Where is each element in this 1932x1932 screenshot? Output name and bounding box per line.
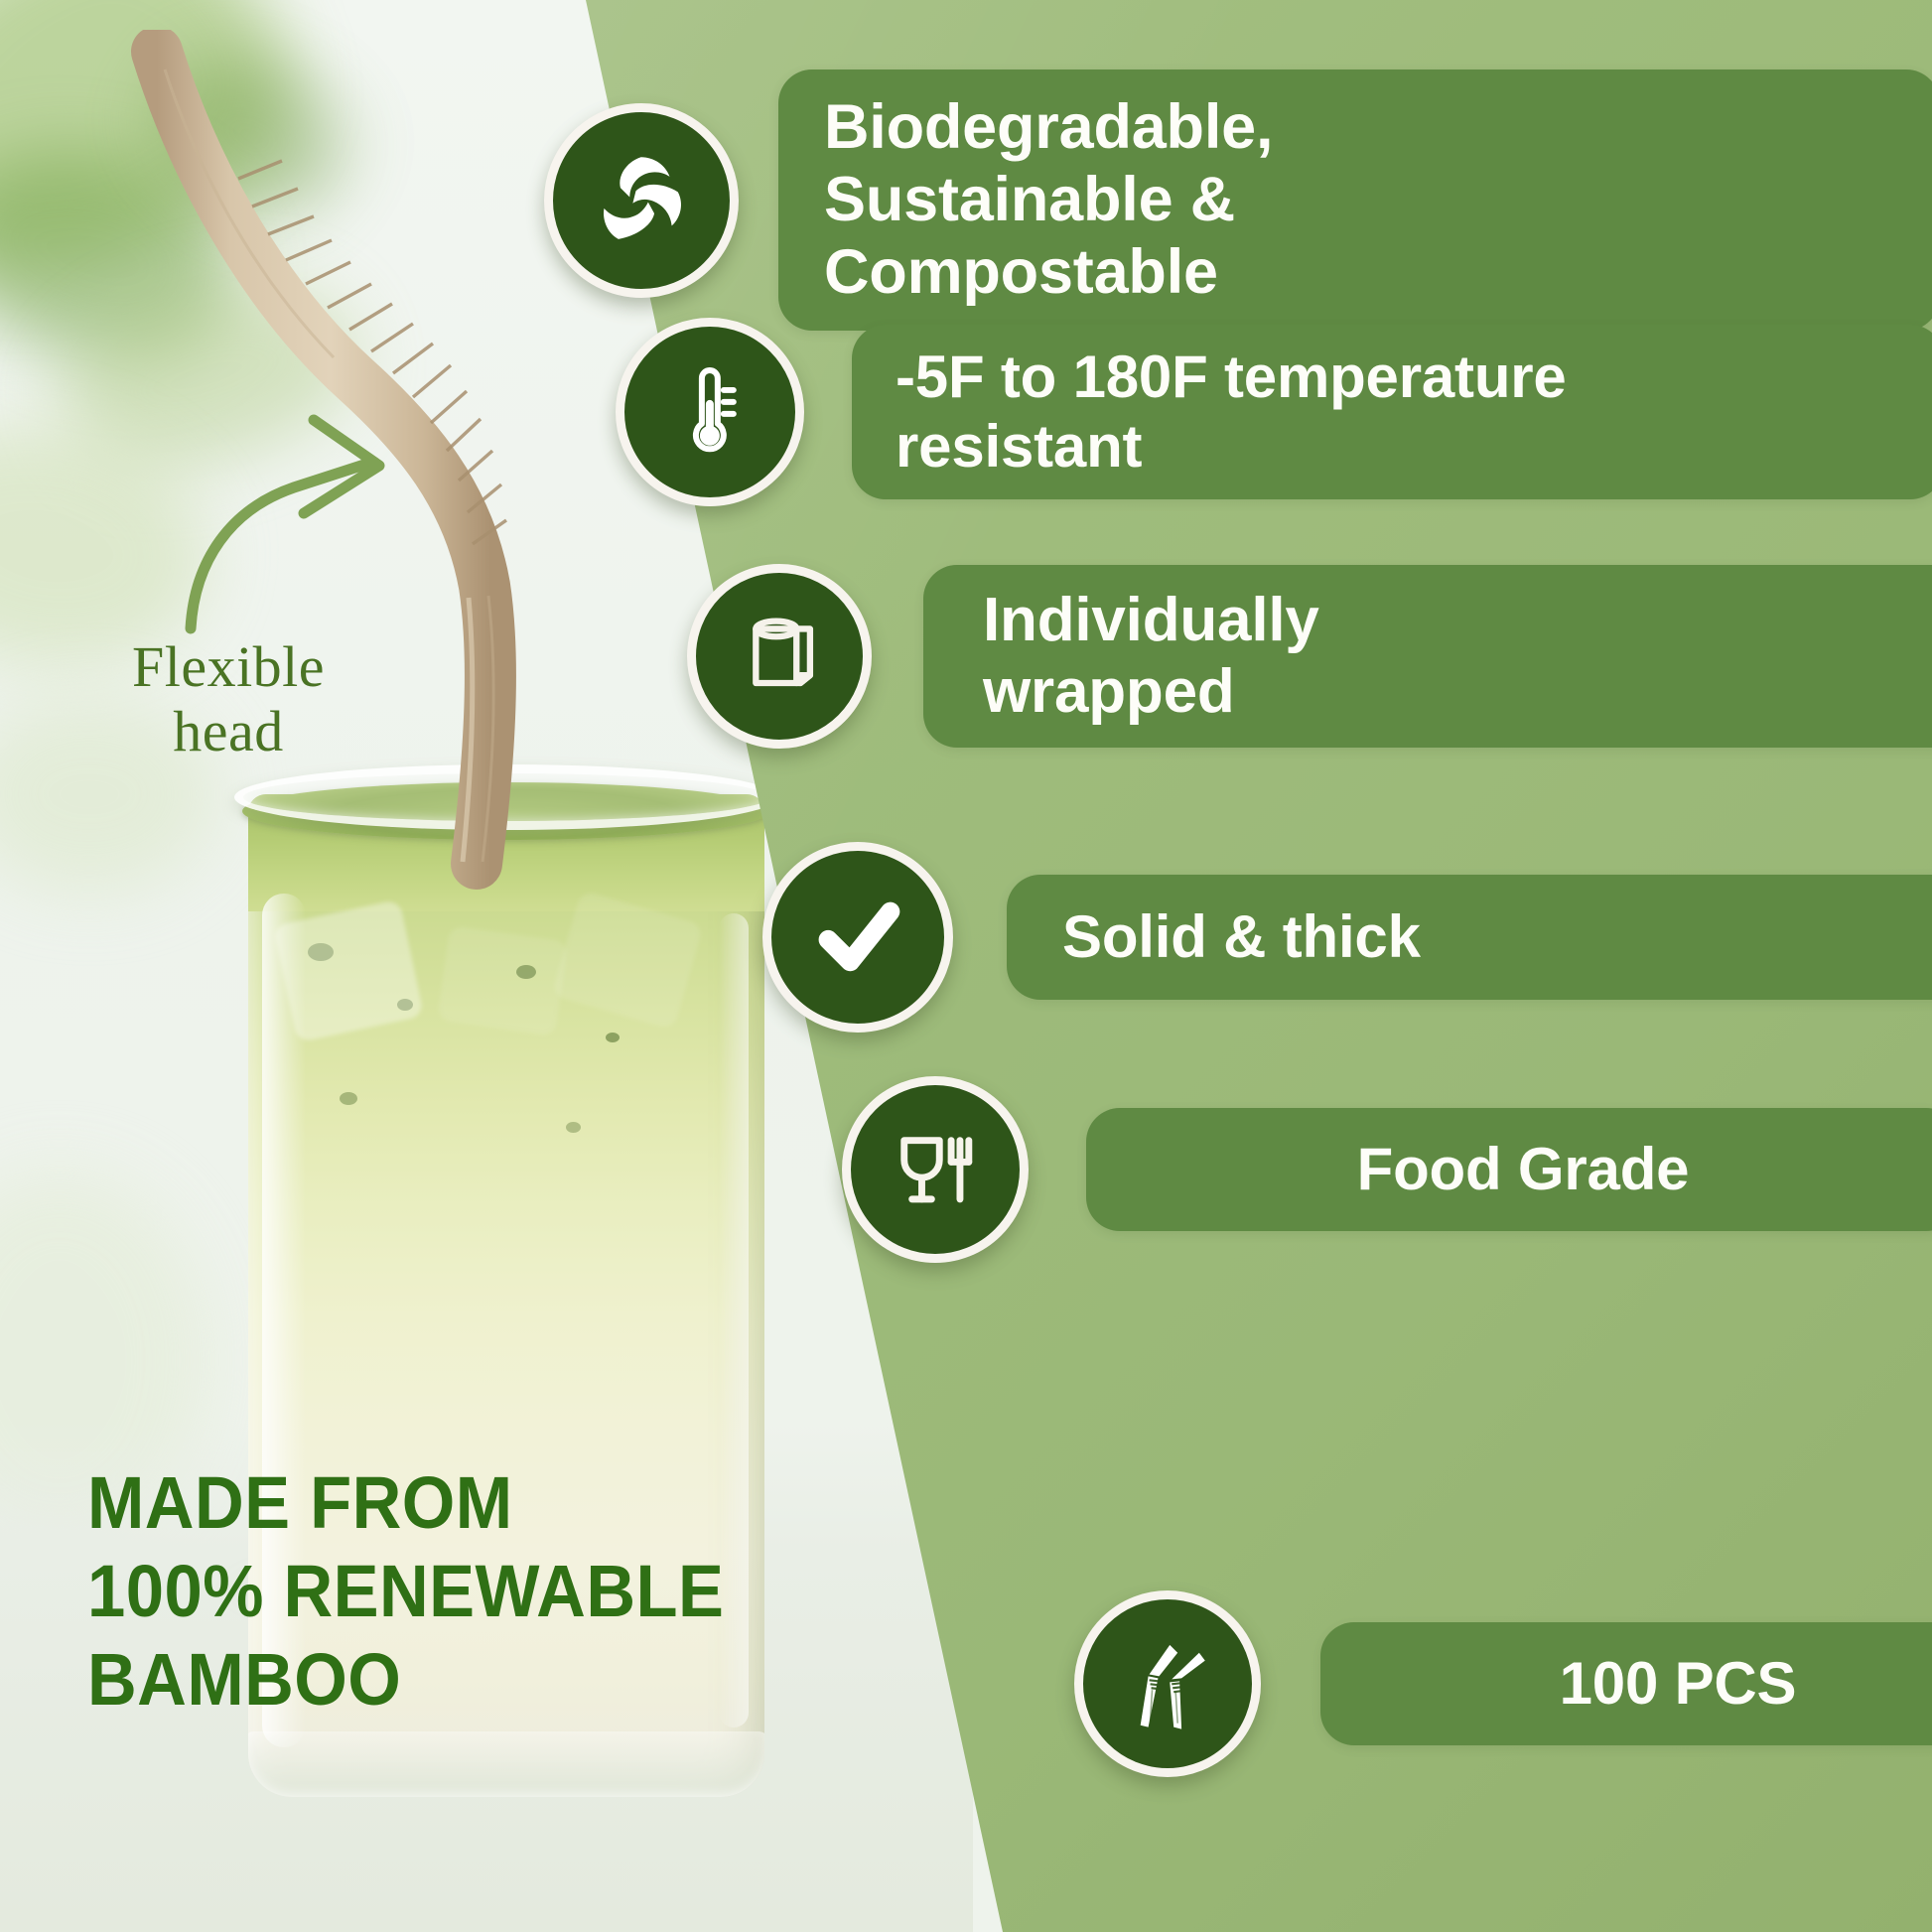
thermometer-icon (616, 318, 804, 506)
feature-label-line: Food Grade (1357, 1135, 1690, 1204)
headline-line-1: MADE FROM (87, 1459, 845, 1548)
feature-label-line: Biodegradable, (824, 91, 1273, 164)
feature-label-line: 100 PCS (1560, 1649, 1797, 1719)
checkmark-icon (762, 842, 953, 1033)
feature-label-line: Sustainable & (824, 164, 1273, 236)
infographic-canvas: Flexible head MADE FROM 100% RENEWABLE B… (0, 0, 1932, 1932)
feature-label-line: resistant (896, 412, 1567, 482)
feature-row-biodegradable: Biodegradable, Sustainable & Compostable (544, 69, 1932, 331)
feature-row-food-grade: Food Grade (842, 1076, 1932, 1263)
curved-arrow-right-icon (169, 402, 417, 640)
glass-base (248, 1731, 764, 1797)
feature-label-line: -5F to 180F temperature (896, 343, 1567, 412)
flexible-head-line-2: head (60, 700, 397, 764)
feature-label-pill: Individually wrapped (923, 565, 1932, 748)
feature-label-line: Solid & thick (1062, 902, 1421, 972)
flexible-head-line-1: Flexible (60, 635, 397, 700)
feature-label-line: Compostable (824, 236, 1273, 309)
feature-label-line: Individually (983, 585, 1319, 656)
flexible-head-annotation: Flexible head (60, 635, 397, 764)
wrapper-roll-icon (687, 564, 872, 749)
headline-line-2: 100% RENEWABLE (87, 1548, 845, 1636)
feature-label-pill: -5F to 180F temperature resistant (852, 325, 1932, 498)
feature-row-solid-and-thick: Solid & thick (762, 842, 1932, 1033)
feature-row-temperature-resistant: -5F to 180F temperature resistant (616, 318, 1932, 506)
glass-and-fork-icon (842, 1076, 1029, 1263)
feature-row-individually-wrapped: Individually wrapped (687, 564, 1932, 749)
feature-label-pill: 100 PCS (1320, 1622, 1932, 1745)
bendy-straws-icon (1074, 1590, 1261, 1777)
feature-row-quantity: 100 PCS (1074, 1590, 1932, 1777)
feature-label-pill: Food Grade (1086, 1108, 1932, 1231)
recycling-leaves-icon (544, 103, 739, 298)
page-title: MADE FROM 100% RENEWABLE BAMBOO (87, 1459, 845, 1724)
headline-line-3: BAMBOO (87, 1636, 845, 1725)
feature-label-pill: Solid & thick (1007, 875, 1932, 1000)
feature-label-line: wrapped (983, 656, 1319, 728)
feature-label-pill: Biodegradable, Sustainable & Compostable (778, 69, 1932, 331)
